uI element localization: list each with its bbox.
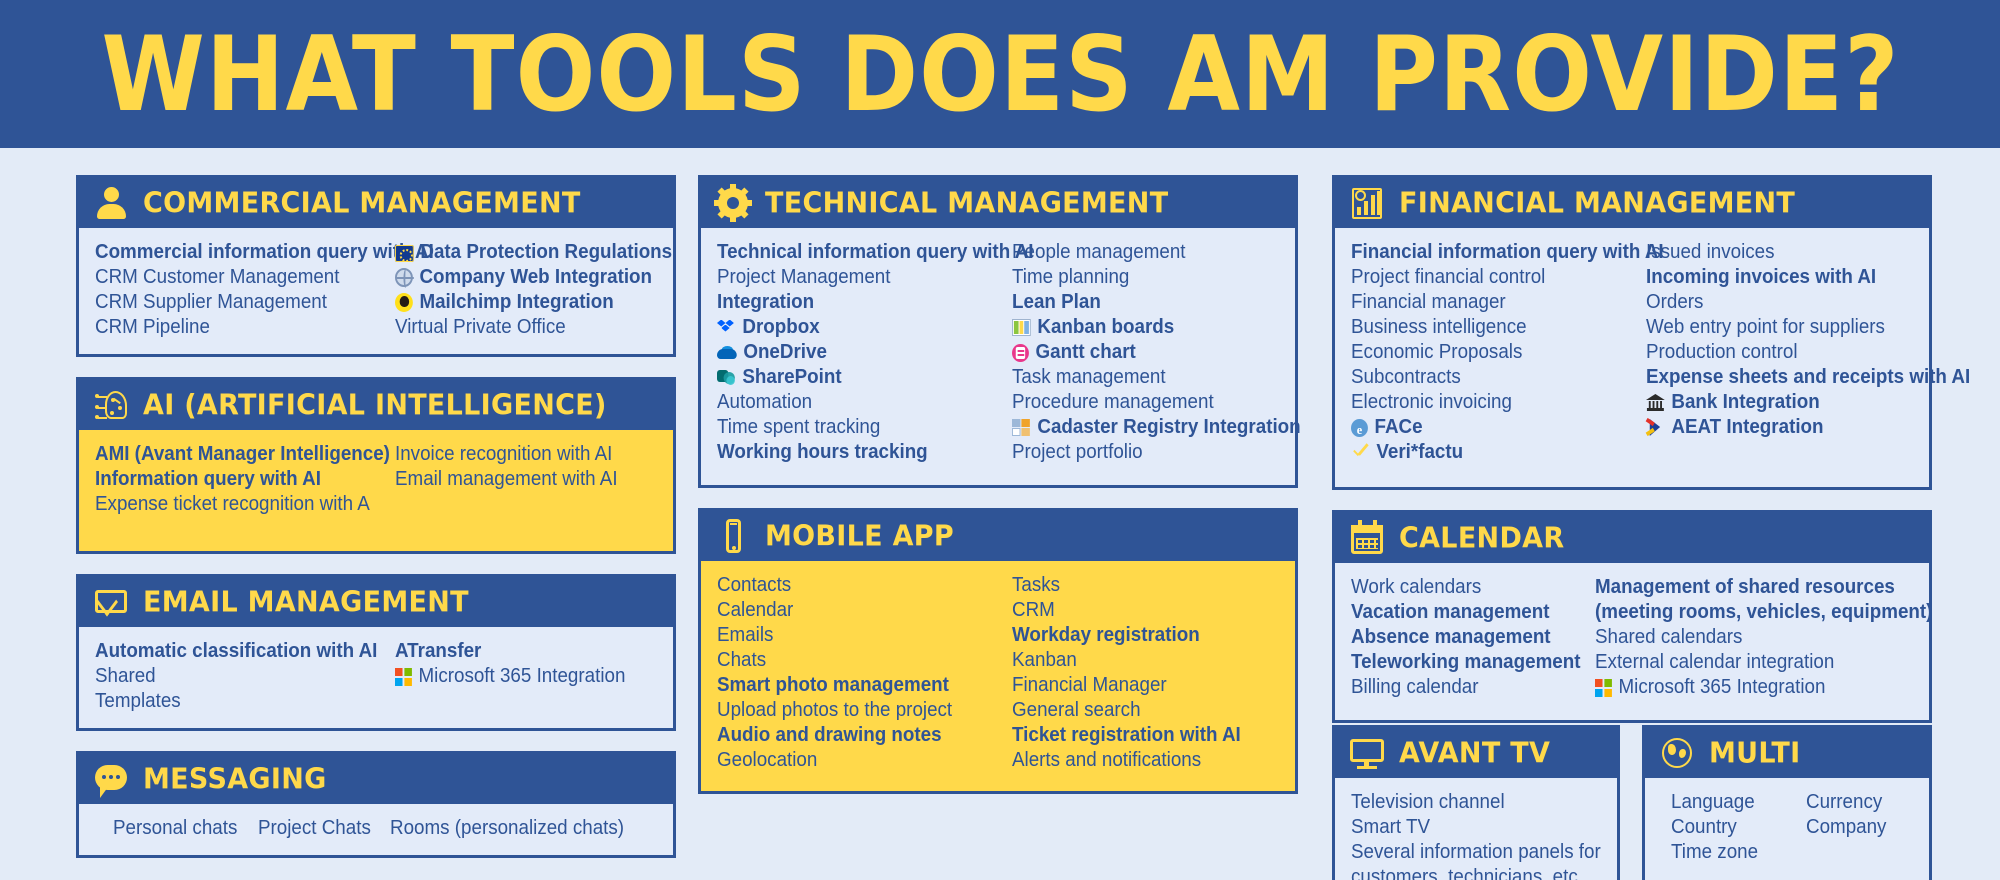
list-right: Currency Company <box>1806 790 1892 865</box>
list-item: Contacts <box>717 573 994 598</box>
card-title: AI (ARTIFICIAL INTELLIGENCE) <box>143 389 607 421</box>
list-right: Management of shared resources (meeting … <box>1595 575 1954 700</box>
list-item: General search <box>1012 698 1241 723</box>
card-header: CALENDAR <box>1335 513 1929 563</box>
list-item: Invoice recognition with AI <box>395 442 618 467</box>
card-title: TECHNICAL MANAGEMENT <box>765 187 1168 219</box>
list-item: Technical information query with AI <box>717 240 994 265</box>
list-item: Emails <box>717 623 994 648</box>
card-header: MULTI <box>1645 728 1929 778</box>
dropbox-icon <box>717 319 736 337</box>
list-item: Expense sheets and receipts with AI <box>1646 365 1970 390</box>
card-header: FINANCIAL MANAGEMENT <box>1335 178 1929 228</box>
list-item: Kanban boards <box>1012 315 1301 340</box>
card-body: Commercial information query with AI CRM… <box>79 228 673 354</box>
column-right: FINANCIAL MANAGEMENT Financial informati… <box>1332 175 1932 743</box>
card-multi: MULTI Language Country Time zone Currenc… <box>1642 725 1932 880</box>
face-icon <box>1351 419 1368 437</box>
gear-icon <box>715 185 751 221</box>
list-item: Geolocation <box>717 748 994 773</box>
card-title: EMAIL MANAGEMENT <box>143 586 469 618</box>
list-left: Language Country Time zone <box>1671 790 1764 865</box>
list-item: CRM Customer Management <box>95 265 377 290</box>
card-header: MOBILE APP <box>701 511 1295 561</box>
aeat-icon <box>1646 419 1665 436</box>
list-item: Rooms (personalized chats) <box>390 816 624 841</box>
list-right: Tasks CRM Workday registration Kanban Fi… <box>1012 573 1255 773</box>
microsoft-icon <box>395 668 412 686</box>
list-item: Subcontracts <box>1351 365 1628 390</box>
card-title: FINANCIAL MANAGEMENT <box>1399 187 1795 219</box>
list-item: Microsoft 365 Integration <box>1595 675 1932 700</box>
card-body: AMI (Avant Manager Intelligence) Informa… <box>79 430 673 551</box>
list-left: Work calendars Vacation management Absen… <box>1351 575 1595 700</box>
list-messaging: Personal chats Project Chats Rooms (pers… <box>95 816 657 841</box>
person-icon <box>93 185 129 221</box>
card-header: EMAIL MANAGEMENT <box>79 577 673 627</box>
globe-icon <box>1659 735 1695 771</box>
list-item: Information query with AI <box>95 467 377 492</box>
list-item: Bank Integration <box>1646 390 1970 415</box>
list-item: Audio and drawing notes <box>717 723 994 748</box>
bar-chart-icon <box>1349 185 1385 221</box>
check-icon <box>1351 444 1370 462</box>
list-item: OneDrive <box>717 340 994 365</box>
list-item: Automatic classification with AI <box>95 639 377 664</box>
list-item: Task management <box>1012 365 1301 390</box>
card-body: Television channel Smart TV Several info… <box>1335 778 1617 880</box>
list-item: Teleworking management <box>1351 650 1580 675</box>
list-item: Email management with AI <box>395 467 618 492</box>
list-item: Dropbox <box>717 315 994 340</box>
list-item: ATransfer <box>395 639 625 664</box>
card-title: CALENDAR <box>1399 522 1564 554</box>
list-item: Time planning <box>1012 265 1301 290</box>
list-item: Lean Plan <box>1012 290 1301 315</box>
list-item: Calendar <box>717 598 994 623</box>
list-item: Procedure management <box>1012 390 1301 415</box>
list-item: Time zone <box>1671 840 1758 865</box>
list-item: Electronic invoicing <box>1351 390 1628 415</box>
list-item: Alerts and notifications <box>1012 748 1241 773</box>
card-title: AVANT TV <box>1399 737 1550 769</box>
list-item: Templates <box>95 689 377 714</box>
list-item: Project Chats <box>258 816 371 841</box>
list-item: Currency <box>1806 790 1886 815</box>
card-header: TECHNICAL MANAGEMENT <box>701 178 1295 228</box>
card-body: Automatic classification with AI Shared … <box>79 627 673 728</box>
list-left: Automatic classification with AI Shared … <box>95 639 395 714</box>
list-item: Tasks <box>1012 573 1241 598</box>
list-item: Financial Manager <box>1012 673 1241 698</box>
list-item: Virtual Private Office <box>395 315 672 340</box>
list-item: Shared <box>95 664 377 689</box>
list-item: Data Protection Regulations <box>395 240 672 265</box>
list-item: Kanban <box>1012 648 1241 673</box>
list-item: Ticket registration with AI <box>1012 723 1241 748</box>
list-item: Work calendars <box>1351 575 1580 600</box>
list-item: customers, technicians, etc. <box>1351 865 1601 880</box>
list-item: AMI (Avant Manager Intelligence) <box>95 442 377 467</box>
card-header: COMMERCIAL MANAGEMENT <box>79 178 673 228</box>
card-header: AVANT TV <box>1335 728 1617 778</box>
list-item: Shared calendars <box>1595 625 1932 650</box>
list-item: Several information panels for <box>1351 840 1601 865</box>
gdpr-icon <box>395 245 414 262</box>
card-title: MULTI <box>1709 737 1801 769</box>
card-financial-management: FINANCIAL MANAGEMENT Financial informati… <box>1332 175 1932 490</box>
title-banner: WHAT TOOLS DOES AM PROVIDE? <box>0 0 2000 148</box>
card-messaging: MESSAGING Personal chats Project Chats R… <box>76 751 676 858</box>
list-item: Business intelligence <box>1351 315 1628 340</box>
list-item: Working hours tracking <box>717 440 994 465</box>
card-body: Contacts Calendar Emails Chats Smart pho… <box>701 561 1295 791</box>
list-item: Project portfolio <box>1012 440 1301 465</box>
card-title: MESSAGING <box>143 763 327 795</box>
card-title: COMMERCIAL MANAGEMENT <box>143 187 581 219</box>
page-title: WHAT TOOLS DOES AM PROVIDE? <box>101 14 1899 134</box>
list-item: People management <box>1012 240 1301 265</box>
card-body: Financial information query with AI Proj… <box>1335 228 1929 487</box>
list-item: Television channel <box>1351 790 1601 815</box>
list-item: Mailchimp Integration <box>395 290 672 315</box>
card-mobile-app: MOBILE APP Contacts Calendar Emails Chat… <box>698 508 1298 794</box>
calendar-icon <box>1349 520 1385 556</box>
list-item: Gantt chart <box>1012 340 1301 365</box>
list-left: Technical information query with AI Proj… <box>717 240 1012 465</box>
list-item: Project financial control <box>1351 265 1628 290</box>
list-item: CRM Pipeline <box>95 315 377 340</box>
list-item: Smart TV <box>1351 815 1601 840</box>
list-item: Management of shared resources <box>1595 575 1932 600</box>
card-body: Personal chats Project Chats Rooms (pers… <box>79 804 673 855</box>
bottom-right-row: AVANT TV Television channel Smart TV Sev… <box>1332 725 1932 880</box>
list-left: Contacts Calendar Emails Chats Smart pho… <box>717 573 1012 773</box>
list-right: Issued invoices Incoming invoices with A… <box>1646 240 1991 465</box>
list-left: AMI (Avant Manager Intelligence) Informa… <box>95 442 395 517</box>
list-item: Workday registration <box>1012 623 1241 648</box>
list-item: FACe <box>1351 415 1628 440</box>
card-avant-tv: AVANT TV Television channel Smart TV Sev… <box>1332 725 1620 880</box>
list-item: Expense ticket recognition with A <box>95 492 377 517</box>
list-item: Company <box>1806 815 1886 840</box>
web-globe-icon <box>395 268 413 287</box>
list-item: Project Management <box>717 265 994 290</box>
list-item: SharePoint <box>717 365 994 390</box>
list-item: Issued invoices <box>1646 240 1970 265</box>
list-right: ATransfer Microsoft 365 Integration <box>395 639 640 714</box>
mailchimp-icon <box>395 293 413 312</box>
list-item: External calendar integration <box>1595 650 1932 675</box>
list-right: People management Time planning Lean Pla… <box>1012 240 1319 465</box>
chat-bubble-icon <box>93 761 129 797</box>
ai-head-icon <box>93 387 129 423</box>
card-body: Technical information query with AI Proj… <box>701 228 1295 485</box>
list-left: Financial information query with AI Proj… <box>1351 240 1646 465</box>
list-item: Company Web Integration <box>395 265 672 290</box>
gantt-icon <box>1012 344 1029 362</box>
onedrive-icon <box>717 345 737 361</box>
list-items: Television channel Smart TV Several info… <box>1351 790 1617 880</box>
list-item: Cadaster Registry Integration <box>1012 415 1301 440</box>
list-item: Personal chats <box>113 816 237 841</box>
card-technical-management: TECHNICAL MANAGEMENT Technical informati… <box>698 175 1298 488</box>
cadaster-icon <box>1012 419 1031 436</box>
bank-icon <box>1646 394 1665 411</box>
microsoft-icon <box>1595 679 1612 697</box>
list-item: CRM Supplier Management <box>95 290 377 315</box>
column-left: COMMERCIAL MANAGEMENT Commercial informa… <box>76 175 676 878</box>
column-middle: TECHNICAL MANAGEMENT Technical informati… <box>698 175 1298 814</box>
list-item: Billing calendar <box>1351 675 1580 700</box>
list-item: Language <box>1671 790 1758 815</box>
sharepoint-icon <box>717 369 736 387</box>
card-body: Work calendars Vacation management Absen… <box>1335 563 1929 720</box>
list-item: AEAT Integration <box>1646 415 1970 440</box>
kanban-icon <box>1012 319 1031 336</box>
list-item: Commercial information query with AI <box>95 240 377 265</box>
envelope-icon <box>93 584 129 620</box>
list-item: Country <box>1671 815 1758 840</box>
card-calendar: CALENDAR Work calendars Vacation managem… <box>1332 510 1932 723</box>
list-item: Smart photo management <box>717 673 994 698</box>
card-body: Language Country Time zone Currency Comp… <box>1645 778 1929 880</box>
list-item: Chats <box>717 648 994 673</box>
list-item: Production control <box>1646 340 1970 365</box>
card-ai: AI (ARTIFICIAL INTELLIGENCE) AMI (Avant … <box>76 377 676 554</box>
list-item: Vacation management <box>1351 600 1580 625</box>
list-item: Upload photos to the project <box>717 698 994 723</box>
list-item: (meeting rooms, vehicles, equipment) <box>1595 600 1932 625</box>
list-item: Financial information query with AI <box>1351 240 1628 265</box>
list-right: Data Protection Regulations Company Web … <box>395 240 690 340</box>
list-item: Web entry point for suppliers <box>1646 315 1970 340</box>
list-item: CRM <box>1012 598 1241 623</box>
list-item: Automation <box>717 390 994 415</box>
list-item: Economic Proposals <box>1351 340 1628 365</box>
card-title: MOBILE APP <box>765 520 954 552</box>
phone-icon <box>715 518 751 554</box>
list-item: Integration <box>717 290 994 315</box>
card-header: MESSAGING <box>79 754 673 804</box>
infographic-page: WHAT TOOLS DOES AM PROVIDE? COMMERCIAL M… <box>0 0 2000 880</box>
list-item: Veri*factu <box>1351 440 1628 465</box>
card-commercial-management: COMMERCIAL MANAGEMENT Commercial informa… <box>76 175 676 357</box>
list-left: Commercial information query with AI CRM… <box>95 240 395 340</box>
card-email-management: EMAIL MANAGEMENT Automatic classificatio… <box>76 574 676 731</box>
list-item: Absence management <box>1351 625 1580 650</box>
list-item: Microsoft 365 Integration <box>395 664 625 689</box>
list-item: Time spent tracking <box>717 415 994 440</box>
card-header: AI (ARTIFICIAL INTELLIGENCE) <box>79 380 673 430</box>
list-item: Financial manager <box>1351 290 1628 315</box>
list-item: Incoming invoices with AI <box>1646 265 1970 290</box>
list-right: Invoice recognition with AI Email manage… <box>395 442 632 517</box>
list-item: Orders <box>1646 290 1970 315</box>
tv-icon <box>1349 735 1385 771</box>
